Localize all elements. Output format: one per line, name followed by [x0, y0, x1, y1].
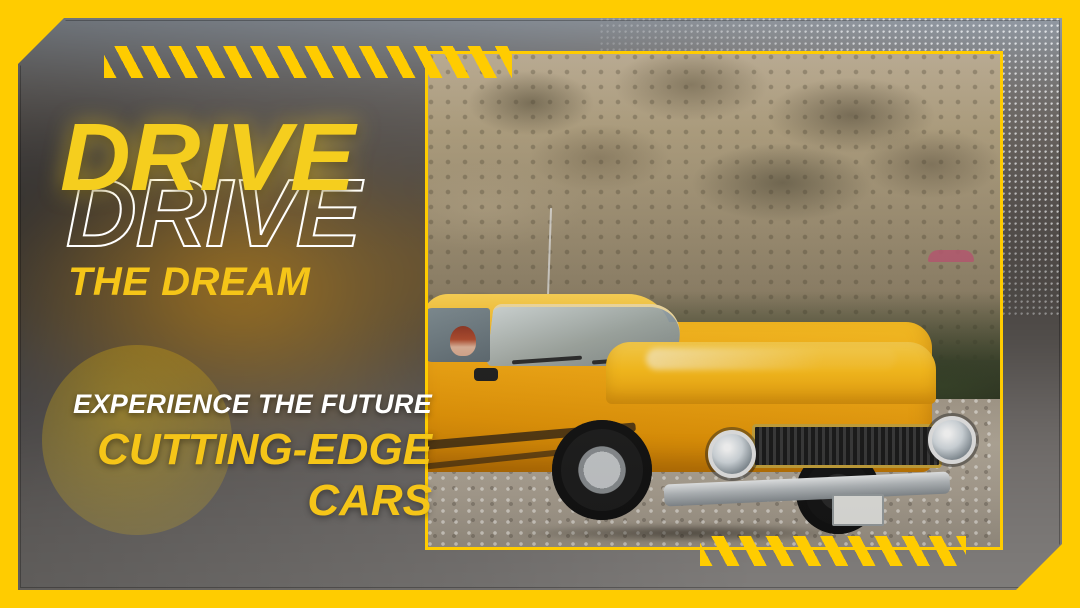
- headline-stack: DRIVE DRIVE: [60, 110, 430, 258]
- car-side-mirror: [474, 368, 498, 381]
- car-grille: [752, 424, 942, 468]
- poster-canvas: DRIVE DRIVE THE DREAM EXPERIENCE THE FUT…: [0, 0, 1080, 608]
- car-front-wheel: [552, 420, 652, 520]
- feature-photo-card: [425, 51, 1003, 550]
- car-headlight-right: [928, 416, 976, 464]
- headline-text: DRIVE: [60, 110, 354, 206]
- eyebrow-text: EXPERIENCE THE FUTURE: [60, 390, 432, 419]
- car-driver: [450, 326, 476, 356]
- car-headlight-left: [708, 430, 756, 478]
- headline-block: DRIVE DRIVE THE DREAM: [60, 110, 430, 258]
- car-hood-highlight: [646, 348, 896, 370]
- car-license-plate: [832, 494, 884, 526]
- classic-car: [428, 282, 976, 547]
- distant-canopy: [928, 250, 974, 262]
- feature-copy-block: EXPERIENCE THE FUTURE CUTTING-EDGE CARS: [60, 390, 432, 524]
- feature-photo-image: [428, 54, 1000, 547]
- feature-line-2: CARS: [60, 479, 432, 524]
- subheadline-text: THE DREAM: [68, 262, 310, 302]
- feature-line-1: CUTTING-EDGE: [60, 428, 432, 473]
